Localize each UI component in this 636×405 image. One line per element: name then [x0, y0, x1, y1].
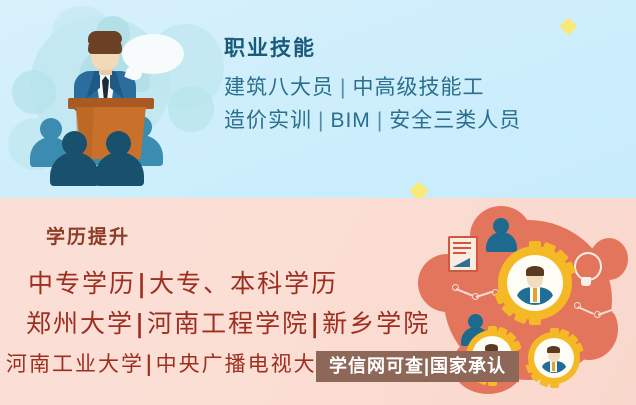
degree-item-open-univ: 中央广播电视大学 — [156, 352, 340, 376]
separator: | — [334, 76, 352, 99]
skills-line-2: 造价实训|BIM|安全三类人员 — [224, 105, 624, 138]
speaker-hair — [88, 31, 122, 44]
degree-item-zhongzhuan: 中专学历 — [28, 269, 136, 298]
degree-item-xinxiang: 新乡学院 — [322, 309, 430, 338]
degree-item-henan-eng: 河南工程学院 — [147, 309, 309, 338]
separator: | — [309, 309, 322, 338]
decorative-blob — [168, 86, 214, 132]
degree-line-1: 中专学历|大专、本科学历 — [28, 264, 338, 300]
skills-panel: 职业技能 建筑八大员|中高级技能工 造价实训|BIM|安全三类人员 — [0, 0, 636, 198]
decorative-blob — [12, 70, 56, 114]
verification-badge: 学信网可查|国家承认 — [316, 351, 519, 382]
gear-icon-large — [498, 246, 572, 320]
degree-title: 学历提升 — [46, 228, 130, 247]
degree-line-3: 河南工业大学|中央广播电视大学 — [6, 348, 340, 378]
skills-item-anquan: 安全三类人员 — [389, 109, 521, 132]
separator: | — [371, 109, 389, 132]
speech-bubble-icon — [122, 34, 184, 74]
skills-line-1: 建筑八大员|中高级技能工 — [224, 72, 624, 105]
document-icon — [448, 236, 478, 272]
skills-item-jineng: 中高级技能工 — [352, 76, 484, 99]
skills-item-zaojia: 造价实训 — [224, 109, 312, 132]
avatar — [513, 261, 557, 305]
avatar — [539, 343, 569, 373]
degree-item-dazhuan-benke: 大专、本科学历 — [149, 269, 338, 298]
sparkle-icon — [559, 17, 577, 35]
skills-item-bim: BIM — [330, 109, 370, 132]
skills-item-jianzhu: 建筑八大员 — [224, 76, 334, 99]
separator: | — [136, 269, 149, 298]
lightbulb-icon — [572, 252, 600, 288]
skills-text-block: 职业技能 建筑八大员|中高级技能工 造价实训|BIM|安全三类人员 — [224, 38, 624, 138]
degree-panel: 学历提升 中专学历|大专、本科学历 郑州大学|河南工程学院|新乡学院 河南工业大… — [0, 198, 636, 405]
degree-line-2: 郑州大学|河南工程学院|新乡学院 — [26, 304, 430, 340]
separator: | — [134, 309, 147, 338]
degree-item-zhengzhou-univ: 郑州大学 — [26, 309, 134, 338]
gear-icon-small-right — [528, 332, 580, 384]
separator: | — [144, 351, 156, 376]
promo-banner: 职业技能 建筑八大员|中高级技能工 造价实训|BIM|安全三类人员 — [0, 0, 636, 405]
skills-title: 职业技能 — [224, 38, 624, 59]
separator: | — [312, 109, 330, 132]
degree-item-henan-industrial: 河南工业大学 — [6, 352, 144, 376]
